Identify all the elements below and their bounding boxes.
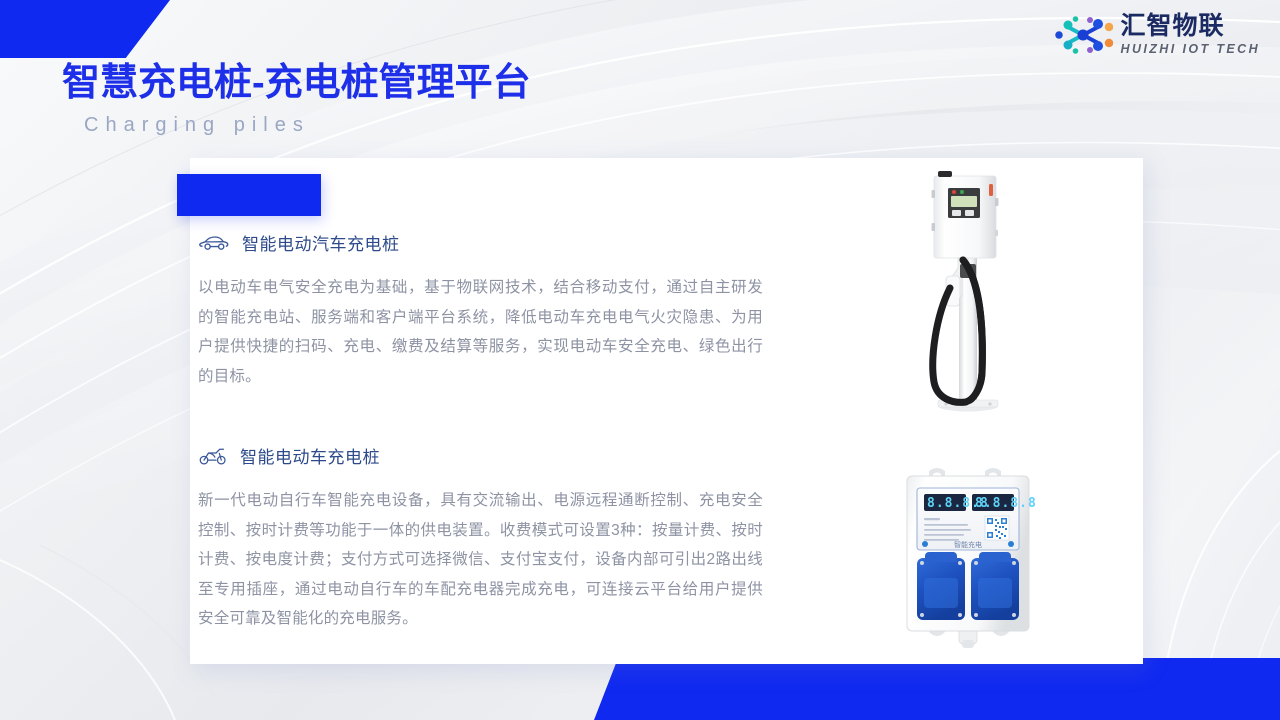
ebike-charging-box-illustration: 8.8.8.8 8.8.8.8 [893,466,1043,651]
header-titles: 智慧充电桩-充电桩管理平台 Charging piles [62,62,531,137]
section-body: 新一代电动自行车智能充电设备，具有交流输出、电源远程通断控制、充电安全控制、按时… [198,486,763,634]
logo-cn-name: 汇智物联 [1121,14,1260,39]
brand-logo: 汇智物联 HUIZHI IOT TECH [1055,14,1260,56]
ev-charging-pile-illustration [900,168,1040,418]
huizhi-molecule-logo-icon [1055,14,1113,56]
page-title: 智慧充电桩-充电桩管理平台 [62,62,531,106]
section-ebike-pile: 智能电动车充电桩 新一代电动自行车智能充电设备，具有交流输出、电源远程通断控制、… [198,443,763,634]
corner-shape-bottom-right [594,658,1280,720]
section-body: 以电动车电气安全充电为基础，基于物联网技术，结合移动支付，通过自主研发的智能充电… [198,273,763,391]
section-tab-banner [177,174,321,216]
section-header: 智能电动车充电桩 [198,443,763,468]
logo-wordmark: 汇智物联 HUIZHI IOT TECH [1121,14,1260,56]
section-header: 智能电动汽车充电桩 [198,230,763,255]
box-panel-label: 智能充电 [954,540,982,549]
car-icon [198,233,230,253]
scooter-icon [198,446,228,466]
section-title: 智能电动汽车充电桩 [242,230,400,255]
section-title: 智能电动车充电桩 [240,443,380,468]
logo-en-name: HUIZHI IOT TECH [1121,43,1260,56]
display-right-value: 8.8.8.8 [975,496,1037,511]
page-subtitle: Charging piles [84,114,531,137]
product-image-ebike-box: 8.8.8.8 8.8.8.8 [893,466,1043,656]
section-ev-car-pile: 智能电动汽车充电桩 以电动车电气安全充电为基础，基于物联网技术，结合移动支付，通… [198,230,763,391]
product-image-ev-pile [900,168,1040,423]
